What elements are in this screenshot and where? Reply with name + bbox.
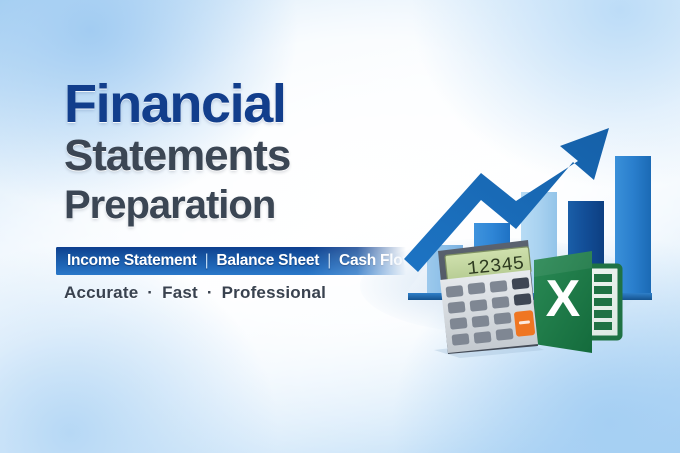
- headline-line-1: Financial: [64, 78, 444, 130]
- tagline-separator-2: ·: [203, 283, 217, 302]
- service-cash-flow: Cash Flow: [339, 252, 414, 269]
- services-ribbon: Income Statement | Balance Sheet | Cash …: [56, 247, 406, 275]
- tagline-fast: Fast: [162, 283, 198, 302]
- tagline-separator-1: ·: [143, 283, 157, 302]
- tagline-accurate: Accurate: [64, 283, 138, 302]
- excel-file-icon: X: [534, 251, 620, 353]
- excel-letter-x: X: [546, 270, 581, 328]
- services-ribbon-text: Income Statement | Balance Sheet | Cash …: [56, 252, 414, 270]
- calculator-icon: 12345: [434, 240, 544, 358]
- ribbon-separator-1: |: [201, 252, 213, 269]
- ribbon-separator-2: |: [323, 252, 335, 269]
- service-income-statement: Income Statement: [67, 252, 197, 269]
- headline-line-3: Preparation: [64, 182, 444, 228]
- headline-block: Financial Statements Preparation: [64, 78, 444, 228]
- service-balance-sheet: Balance Sheet: [216, 252, 319, 269]
- promotional-banner: X 12345: [0, 0, 680, 453]
- headline-line-2: Statements: [64, 131, 444, 181]
- tagline-professional: Professional: [222, 283, 326, 302]
- tagline: Accurate · Fast · Professional: [64, 283, 326, 303]
